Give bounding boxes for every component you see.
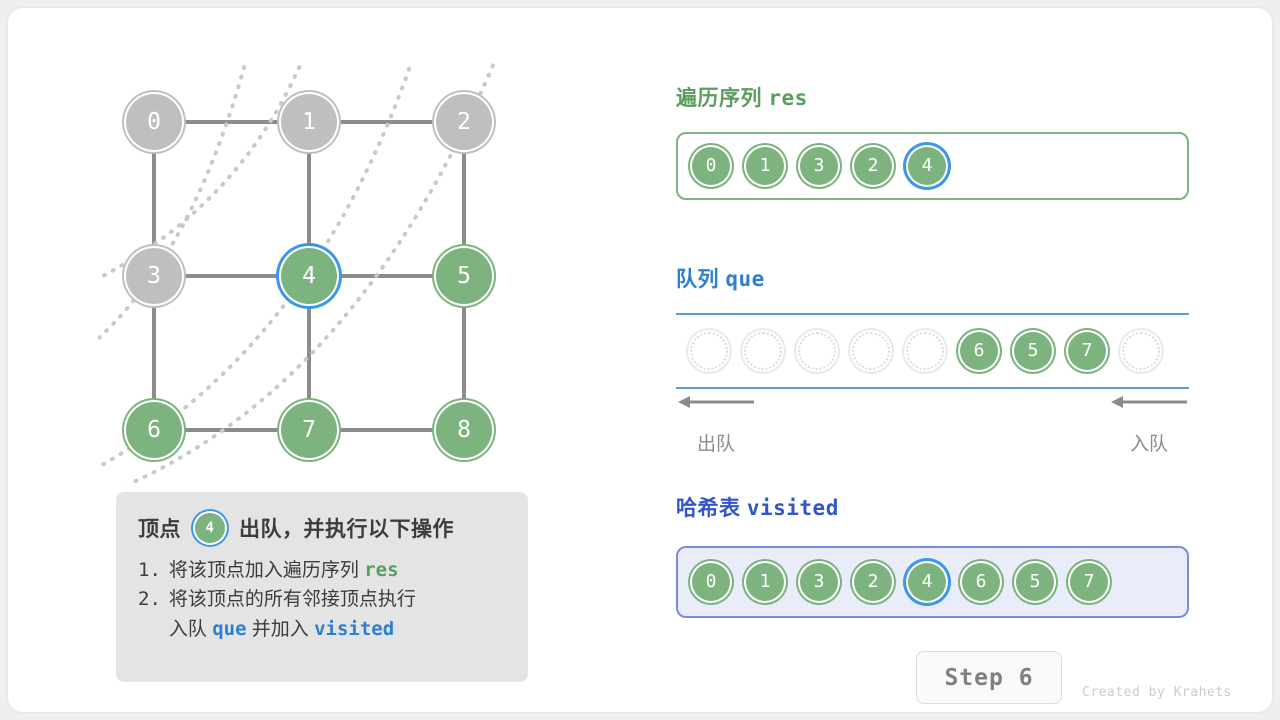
res-item[interactable]: 0 — [692, 147, 730, 185]
step-2-line2-mid: 并加入 — [252, 619, 309, 640]
que-item[interactable]: 6 — [960, 332, 998, 370]
res-item[interactable]: 2 — [854, 147, 892, 185]
que-title-cn: 队列 — [676, 268, 719, 291]
res-title-cn: 遍历序列 — [676, 87, 762, 110]
instruction-step-list: 1. 将该顶点加入遍历序列 res 2. 将该顶点的所有邻接顶点执行 入队 qu… — [138, 556, 506, 644]
res-item[interactable]: 1 — [746, 147, 784, 185]
res-item[interactable]: 3 — [800, 147, 838, 185]
que-item[interactable]: 7 — [1068, 332, 1106, 370]
visited-item[interactable]: 7 — [1070, 563, 1108, 601]
que-container: 657 — [676, 313, 1189, 389]
step-1-text: 将该顶点加入遍历序列 res — [169, 556, 506, 585]
que-empty-slot — [798, 332, 836, 370]
step-2-code-visited: visited — [314, 618, 394, 640]
step-2-line2-before: 入队 — [169, 619, 207, 640]
visited-item[interactable]: 6 — [962, 563, 1000, 601]
visited-item[interactable]: 1 — [746, 563, 784, 601]
que-empty-slot — [690, 332, 728, 370]
visited-item[interactable]: 0 — [692, 563, 730, 601]
visited-item[interactable]: 4 — [908, 563, 946, 601]
instruction-box: 顶点 4 出队，并执行以下操作 1. 将该顶点加入遍历序列 res 2. 将该顶… — [116, 492, 528, 682]
res-container: 01324 — [676, 132, 1189, 200]
step-2-text: 将该顶点的所有邻接顶点执行 入队 que 并加入 visited — [169, 585, 506, 644]
visited-item[interactable]: 2 — [854, 563, 892, 601]
graph-node-3[interactable]: 3 — [126, 248, 182, 304]
step-1-number: 1. — [138, 556, 161, 585]
graph-node-2[interactable]: 2 — [436, 94, 492, 150]
que-empty-slot — [1122, 332, 1160, 370]
graph-node-8[interactable]: 8 — [436, 402, 492, 458]
dequeue-arrow-group: 出队 — [676, 394, 756, 456]
dequeue-label: 出队 — [676, 429, 756, 456]
enqueue-arrow-group: 入队 — [1109, 394, 1189, 456]
que-section-title: 队列 que — [676, 263, 765, 293]
que-title-code: que — [725, 267, 764, 291]
credit-text: Created by Krahets — [1082, 685, 1232, 700]
graph-node-7[interactable]: 7 — [281, 402, 337, 458]
figure-card: 012345678 顶点 4 出队，并执行以下操作 1. 将该顶点加入遍历序列 … — [8, 8, 1272, 712]
visited-title-cn: 哈希表 — [676, 497, 741, 520]
enqueue-label: 入队 — [1109, 429, 1189, 456]
step-1-code-res: res — [364, 559, 398, 581]
que-item[interactable]: 5 — [1014, 332, 1052, 370]
que-direction-arrows: 出队 入队 — [676, 394, 1189, 450]
graph-node-4[interactable]: 4 — [281, 248, 337, 304]
instruction-step-2: 2. 将该顶点的所有邻接顶点执行 入队 que 并加入 visited — [138, 585, 506, 644]
arrow-left-icon — [1109, 394, 1189, 410]
step-indicator: Step 6 — [916, 651, 1062, 704]
bfs-wave-curve — [98, 63, 313, 293]
instruction-headline-suffix: 出队，并执行以下操作 — [239, 513, 454, 543]
res-item[interactable]: 4 — [908, 147, 946, 185]
instruction-headline-prefix: 顶点 — [138, 513, 181, 543]
res-title-code: res — [768, 86, 807, 110]
instruction-headline: 顶点 4 出队，并执行以下操作 — [138, 508, 506, 548]
res-section-title: 遍历序列 res — [676, 82, 808, 112]
instruction-step-1: 1. 将该顶点加入遍历序列 res — [138, 556, 506, 585]
graph-node-5[interactable]: 5 — [436, 248, 492, 304]
arrow-left-icon — [676, 394, 756, 410]
visited-container: 01324657 — [676, 546, 1189, 618]
que-empty-slot — [744, 332, 782, 370]
step-2-number: 2. — [138, 585, 161, 644]
graph-panel: 012345678 — [98, 63, 528, 483]
que-empty-slot — [906, 332, 944, 370]
graph-node-6[interactable]: 6 — [126, 402, 182, 458]
instruction-node-badge: 4 — [195, 513, 225, 543]
graph-node-0[interactable]: 0 — [126, 94, 182, 150]
graph-node-1[interactable]: 1 — [281, 94, 337, 150]
que-empty-slot — [852, 332, 890, 370]
visited-section-title: 哈希表 visited — [676, 492, 839, 522]
visited-title-code: visited — [747, 496, 839, 520]
step-2-code-que: que — [212, 618, 246, 640]
step-1-text-before: 将该顶点加入遍历序列 — [169, 560, 359, 581]
visited-item[interactable]: 3 — [800, 563, 838, 601]
visited-item[interactable]: 5 — [1016, 563, 1054, 601]
step-2-line1: 将该顶点的所有邻接顶点执行 — [169, 589, 416, 610]
